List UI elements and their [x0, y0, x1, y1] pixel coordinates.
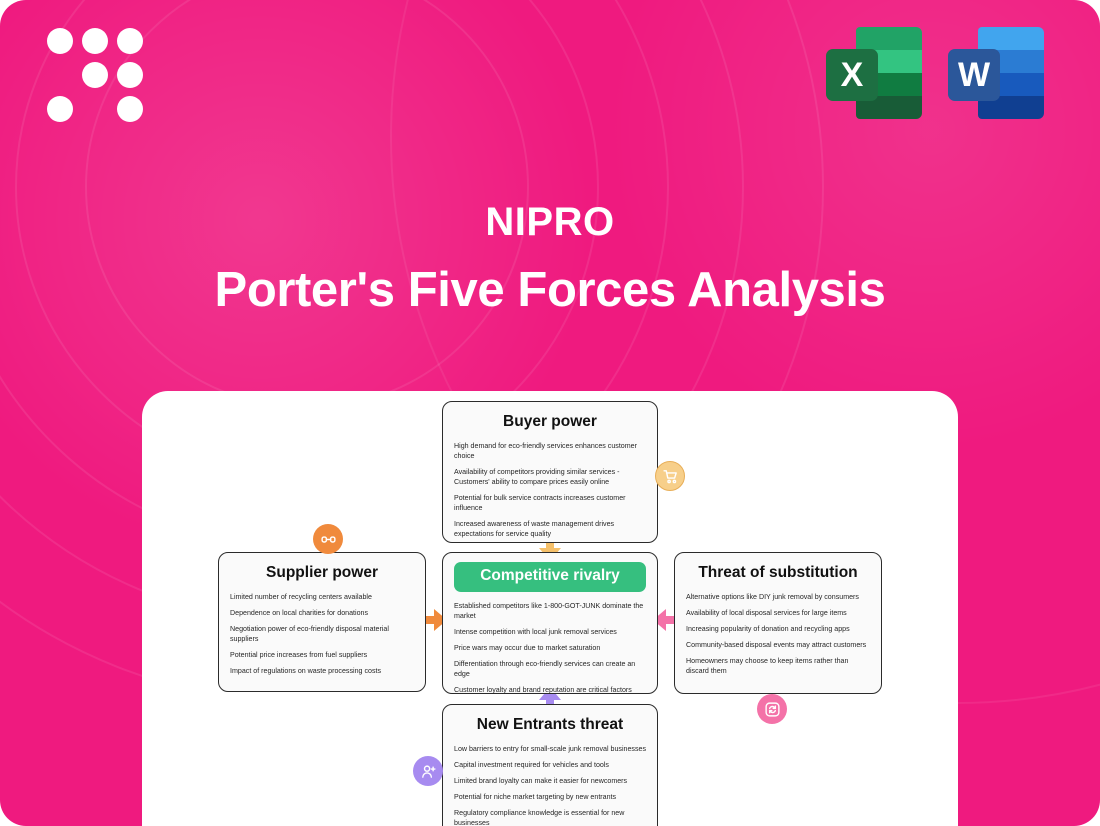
force-point: Increasing popularity of donation and re…: [686, 624, 870, 634]
logo-dot: [117, 96, 143, 122]
force-point: Limited brand loyalty can make it easier…: [454, 776, 646, 786]
force-point: Impact of regulations on waste processin…: [230, 666, 414, 676]
excel-icon[interactable]: X: [826, 27, 922, 122]
force-points-buyer: High demand for eco-friendly services en…: [454, 441, 646, 540]
force-point: Homeowners may choose to keep items rath…: [686, 656, 870, 676]
force-point: Capital investment required for vehicles…: [454, 760, 646, 770]
office-icons-group: X W: [826, 27, 1044, 122]
force-point: Intense competition with local junk remo…: [454, 627, 646, 637]
logo-dot: [82, 62, 108, 88]
force-point: Increased awareness of waste management …: [454, 519, 646, 539]
force-point: Potential for niche market targeting by …: [454, 792, 646, 802]
force-point: Community-based disposal events may attr…: [686, 640, 870, 650]
force-points-supplier: Limited number of recycling centers avai…: [230, 592, 414, 676]
force-point: Price wars may occur due to market satur…: [454, 643, 646, 653]
dot-grid-logo: [47, 28, 143, 122]
logo-dot: [47, 28, 73, 54]
logo-dot: [82, 28, 108, 54]
refresh-sync-icon[interactable]: [757, 694, 787, 724]
force-point: Dependence on local charities for donati…: [230, 608, 414, 618]
force-point: High demand for eco-friendly services en…: [454, 441, 646, 461]
force-point: Customer loyalty and brand reputation ar…: [454, 685, 646, 695]
force-points-rivalry: Established competitors like 1-800-GOT-J…: [454, 601, 646, 695]
force-points-entrants: Low barriers to entry for small-scale ju…: [454, 744, 646, 826]
word-letter-badge: W: [948, 49, 1000, 101]
force-point: Potential price increases from fuel supp…: [230, 650, 414, 660]
title-block: NIPRO Porter's Five Forces Analysis: [0, 198, 1100, 321]
excel-strip: [856, 27, 922, 50]
content-card: Buyer power High demand for eco-friendly…: [142, 391, 958, 826]
force-box-buyer-power[interactable]: Buyer power High demand for eco-friendly…: [442, 401, 658, 543]
logo-dot: [47, 96, 73, 122]
wrench-link-icon[interactable]: [313, 524, 343, 554]
excel-letter-badge: X: [826, 49, 878, 101]
force-point: Regulatory compliance knowledge is essen…: [454, 808, 646, 826]
page-title: Porter's Five Forces Analysis: [0, 260, 1100, 321]
force-box-threat-of-substitution[interactable]: Threat of substitution Alternative optio…: [674, 552, 882, 694]
force-point: Negotiation power of eco-friendly dispos…: [230, 624, 414, 644]
word-strip: [978, 27, 1044, 50]
brand-name: NIPRO: [0, 198, 1100, 246]
force-point: Established competitors like 1-800-GOT-J…: [454, 601, 646, 621]
porters-five-forces-diagram: Buyer power High demand for eco-friendly…: [142, 391, 958, 826]
force-points-substitute: Alternative options like DIY junk remova…: [686, 592, 870, 676]
force-title-buyer: Buyer power: [454, 413, 646, 432]
page-root: X W NIPRO Porter's Five Forces Analysis: [0, 0, 1100, 826]
force-point: Availability of local disposal services …: [686, 608, 870, 618]
force-point: Limited number of recycling centers avai…: [230, 592, 414, 602]
force-point: Alternative options like DIY junk remova…: [686, 592, 870, 602]
add-person-icon[interactable]: [413, 756, 443, 786]
word-icon[interactable]: W: [948, 27, 1044, 122]
force-point: Low barriers to entry for small-scale ju…: [454, 744, 646, 754]
force-box-new-entrants-threat[interactable]: New Entrants threat Low barriers to entr…: [442, 704, 658, 826]
force-box-supplier-power[interactable]: Supplier power Limited number of recycli…: [218, 552, 426, 692]
logo-dot: [117, 62, 143, 88]
logo-dot: [117, 28, 143, 54]
shopping-cart-icon[interactable]: [655, 461, 685, 491]
force-point: Availability of competitors providing si…: [454, 467, 646, 487]
force-title-substitute: Threat of substitution: [686, 564, 870, 583]
force-title-entrants: New Entrants threat: [454, 716, 646, 735]
force-title-rivalry: Competitive rivalry: [454, 562, 646, 592]
force-box-competitive-rivalry[interactable]: Competitive rivalry Established competit…: [442, 552, 658, 694]
force-title-supplier: Supplier power: [230, 564, 414, 583]
force-point: Potential for bulk service contracts inc…: [454, 493, 646, 513]
force-point: Differentiation through eco-friendly ser…: [454, 659, 646, 679]
